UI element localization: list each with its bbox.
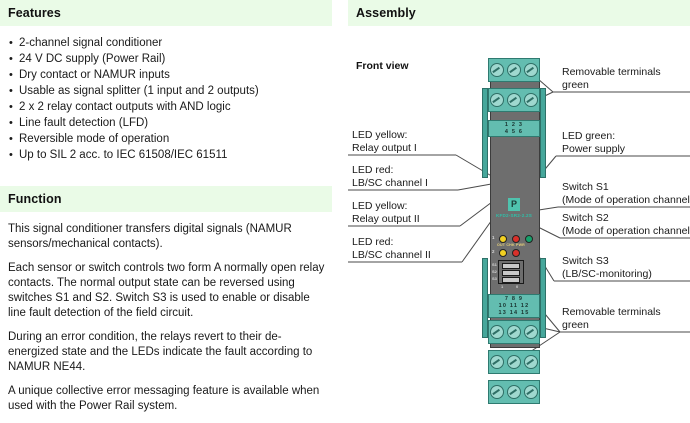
callout-line-1: Removable terminals xyxy=(562,306,661,318)
callout-line-1: LED yellow: xyxy=(352,200,407,212)
callout-removable-terminals-top: Removable terminals green xyxy=(562,66,661,92)
terminal-block-bottom-2 xyxy=(488,350,540,374)
callout-switch-s1: Switch S1 (Mode of operation channel I) xyxy=(562,181,690,207)
terminal-screw xyxy=(490,325,504,339)
terminal-screw xyxy=(524,63,538,77)
mounting-rail-right-lower xyxy=(540,258,546,338)
list-item: Line fault detection (LFD) xyxy=(0,115,332,131)
features-heading: Features xyxy=(8,6,61,20)
terminal-block-bottom-1 xyxy=(488,320,540,344)
led-red-lbsc-channel-1 xyxy=(512,235,520,243)
list-item: Reversible mode of operation xyxy=(0,131,332,147)
callout-line-2: Relay output II xyxy=(352,213,420,226)
callout-led-yellow-relay-2: LED yellow: Relay output II xyxy=(352,200,420,226)
callout-led-red-lbsc-2: LED red: LB/SC channel II xyxy=(352,236,431,262)
terminal-screw xyxy=(524,355,538,369)
callout-line-2: Relay output I xyxy=(352,142,417,155)
callout-line-1: Switch S2 xyxy=(562,212,609,224)
dip-switch-s3[interactable] xyxy=(502,277,520,283)
dip-switch-label-s2: S2 xyxy=(492,269,497,274)
dip-switch-position-on: 1 xyxy=(501,284,503,289)
assembly-heading-band: Assembly xyxy=(348,0,690,26)
terminal-numbers-row: 1 2 3 xyxy=(489,122,539,129)
device-model-label: KFD2-SR2-2.2S xyxy=(490,213,538,218)
list-item: Dry contact or NAMUR inputs xyxy=(0,67,332,83)
terminal-numbers-row: 7 8 9 xyxy=(489,296,539,303)
features-list: 2-channel signal conditioner 24 V DC sup… xyxy=(0,26,332,163)
terminal-block-top-2 xyxy=(488,88,540,112)
terminal-numbers-row: 4 5 6 xyxy=(489,129,539,136)
callout-line-1: LED red: xyxy=(352,164,393,176)
dip-switch-label-s1: S1 xyxy=(492,262,497,267)
terminal-screw xyxy=(507,385,521,399)
terminal-screw xyxy=(507,325,521,339)
left-column: Features 2-channel signal conditioner 24… xyxy=(0,0,332,163)
list-item: 24 V DC supply (Power Rail) xyxy=(0,51,332,67)
terminal-screw xyxy=(524,385,538,399)
callout-line-2: (Mode of operation channel I) xyxy=(562,194,690,207)
callout-line-2: Power supply xyxy=(562,143,625,156)
mounting-rail-right xyxy=(540,88,546,178)
terminal-screw xyxy=(507,63,521,77)
callout-line-1: LED yellow: xyxy=(352,129,407,141)
callout-line-1: LED green: xyxy=(562,130,615,142)
paragraph: This signal conditioner transfers digita… xyxy=(8,222,326,252)
callout-line-2: LB/SC channel I xyxy=(352,177,428,190)
led-yellow-relay-output-2 xyxy=(499,249,507,257)
terminal-numbers-top: 1 2 3 4 5 6 xyxy=(488,120,540,137)
assembly-heading: Assembly xyxy=(356,6,416,20)
brand-logo-icon: P xyxy=(508,198,520,211)
callout-line-2: green xyxy=(562,79,661,92)
right-column: Assembly Front view xyxy=(348,0,690,26)
callout-led-red-lbsc-1: LED red: LB/SC channel I xyxy=(352,164,428,190)
dip-switch-label-s3: S3 xyxy=(492,276,497,281)
dip-switch-s1[interactable] xyxy=(502,263,520,269)
terminal-numbers-bottom: 7 8 9 10 11 12 13 14 15 xyxy=(488,294,540,318)
dip-switch-position-off: 0 xyxy=(516,284,518,289)
callout-line-1: Switch S1 xyxy=(562,181,609,193)
terminal-numbers-row: 10 11 12 xyxy=(489,303,539,310)
terminal-block-bottom-3 xyxy=(488,380,540,404)
dip-switch-block[interactable] xyxy=(498,260,524,284)
paragraph: A unique collective error messaging feat… xyxy=(8,384,326,414)
led-row-1-number: 1 xyxy=(492,235,495,240)
list-item: 2 x 2 relay contact outputs with AND log… xyxy=(0,99,332,115)
terminal-screw xyxy=(524,325,538,339)
terminal-screw xyxy=(507,355,521,369)
callout-line-2: green xyxy=(562,319,661,332)
callout-line-2: (LB/SC-monitoring) xyxy=(562,268,652,281)
terminal-screw xyxy=(507,93,521,107)
function-heading: Function xyxy=(8,192,62,206)
device-illustration: 1 2 3 4 5 6 P KFD2-SR2-2.2S 1 OUT CHK PW… xyxy=(478,58,550,368)
features-heading-band: Features xyxy=(0,0,332,26)
paragraph: Each sensor or switch controls two form … xyxy=(8,261,326,321)
terminal-screw xyxy=(490,63,504,77)
callout-led-yellow-relay-1: LED yellow: Relay output I xyxy=(352,129,417,155)
terminal-screw xyxy=(490,93,504,107)
function-section: Function This signal conditioner transfe… xyxy=(0,186,332,423)
led-legend-label: OUT CHK PWR xyxy=(497,243,525,247)
terminal-screw xyxy=(490,355,504,369)
front-view-label: Front view xyxy=(356,60,409,72)
callout-line-2: (Mode of operation channel II) xyxy=(562,225,690,238)
led-yellow-relay-output-1 xyxy=(499,235,507,243)
callout-line-1: Removable terminals xyxy=(562,66,661,78)
dip-switch-s2[interactable] xyxy=(502,270,520,276)
callout-switch-s2: Switch S2 (Mode of operation channel II) xyxy=(562,212,690,238)
callout-removable-terminals-bottom: Removable terminals green xyxy=(562,306,661,332)
callout-line-1: LED red: xyxy=(352,236,393,248)
callout-line-2: LB/SC channel II xyxy=(352,249,431,262)
paragraph: During an error condition, the relays re… xyxy=(8,330,326,375)
callout-switch-s3: Switch S3 (LB/SC-monitoring) xyxy=(562,255,652,281)
led-green-power-supply xyxy=(525,235,533,243)
terminal-block-top-1 xyxy=(488,58,540,82)
callout-led-green-power: LED green: Power supply xyxy=(562,130,625,156)
led-row-2-number: 2 xyxy=(492,249,495,254)
list-item: Up to SIL 2 acc. to IEC 61508/IEC 61511 xyxy=(0,147,332,163)
led-red-lbsc-channel-2 xyxy=(512,249,520,257)
terminal-screw xyxy=(490,385,504,399)
callout-line-1: Switch S3 xyxy=(562,255,609,267)
list-item: Usable as signal splitter (1 input and 2… xyxy=(0,83,332,99)
list-item: 2-channel signal conditioner xyxy=(0,35,332,51)
function-body: This signal conditioner transfers digita… xyxy=(0,212,332,414)
terminal-screw xyxy=(524,93,538,107)
terminal-numbers-row: 13 14 15 xyxy=(489,310,539,317)
function-heading-band: Function xyxy=(0,186,332,212)
